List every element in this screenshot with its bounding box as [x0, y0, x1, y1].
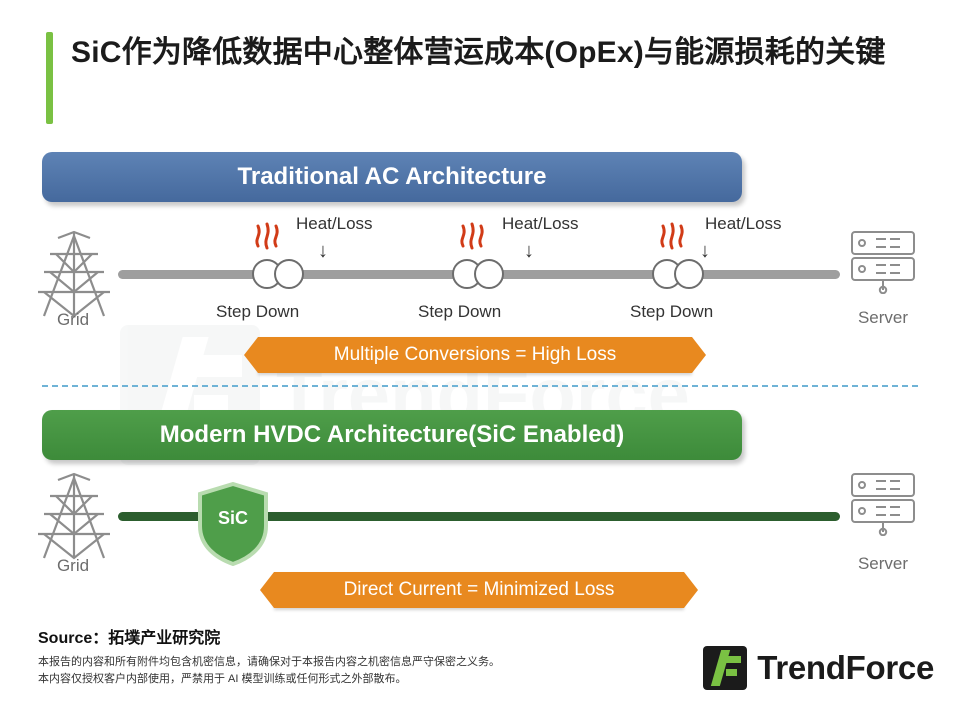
- disclaimer: 本报告的内容和所有附件均包含机密信息，请确保对于本报告内容之机密信息严守保密之义…: [38, 654, 500, 688]
- sic-shield-label: SiC: [196, 508, 270, 529]
- server-icon: [850, 472, 916, 536]
- step-down-transformer-icon-2: [452, 259, 510, 289]
- step-down-transformer-icon-1: [252, 259, 310, 289]
- trendforce-logo-icon: [703, 646, 747, 690]
- hvdc-benefit-ribbon: Direct Current = Minimized Loss: [274, 572, 684, 608]
- step-down-label-2: Step Down: [418, 302, 501, 322]
- dc-grid-label: Grid: [18, 556, 128, 576]
- heat-arrow-icon-1: ↓: [318, 240, 328, 263]
- step-down-label-3: Step Down: [630, 302, 713, 322]
- grid-tower-icon: [28, 472, 120, 560]
- heat-loss-label-1: Heat/Loss: [296, 214, 373, 234]
- ac-server-label: Server: [828, 308, 938, 328]
- dc-server-label: Server: [828, 554, 938, 574]
- source-label: Source：拓墣产业研究院: [38, 624, 220, 648]
- ac-architecture-banner: Traditional AC Architecture: [42, 152, 742, 202]
- hvdc-architecture-banner-label: Modern HVDC Architecture(SiC Enabled): [160, 421, 625, 449]
- page-title-text: SiC作为降低数据中心整体营运成本(OpEx)与能源损耗的关键: [71, 32, 886, 75]
- ac-grid-label: Grid: [18, 310, 128, 330]
- heat-loss-label-3: Heat/Loss: [705, 214, 782, 234]
- section-divider: [42, 385, 918, 387]
- hvdc-architecture-banner: Modern HVDC Architecture(SiC Enabled): [42, 410, 742, 460]
- heat-loss-label-2: Heat/Loss: [502, 214, 579, 234]
- step-down-label-1: Step Down: [216, 302, 299, 322]
- page-title: SiC作为降低数据中心整体营运成本(OpEx)与能源损耗的关键: [46, 32, 926, 124]
- server-icon: [850, 230, 916, 294]
- heat-arrow-icon-2: ↓: [524, 240, 534, 263]
- brand-logo: TrendForce: [703, 646, 934, 690]
- step-down-transformer-icon-3: [652, 259, 710, 289]
- heat-loss-icon: [250, 220, 284, 252]
- heat-loss-icon: [655, 220, 689, 252]
- ac-architecture-banner-label: Traditional AC Architecture: [238, 163, 547, 191]
- disclaimer-line-2: 本内容仅授权客户内部使用，严禁用于 AI 模型训练或任何形式之外部散布。: [38, 671, 500, 688]
- title-accent-bar: [46, 32, 53, 124]
- grid-tower-icon: [28, 230, 120, 318]
- brand-name: TrendForce: [757, 649, 934, 687]
- hvdc-benefit-ribbon-label: Direct Current = Minimized Loss: [344, 579, 615, 601]
- heat-loss-icon: [455, 220, 489, 252]
- ac-loss-ribbon: Multiple Conversions = High Loss: [258, 337, 692, 373]
- ac-loss-ribbon-label: Multiple Conversions = High Loss: [334, 344, 617, 366]
- disclaimer-line-1: 本报告的内容和所有附件均包含机密信息，请确保对于本报告内容之机密信息严守保密之义…: [38, 654, 500, 671]
